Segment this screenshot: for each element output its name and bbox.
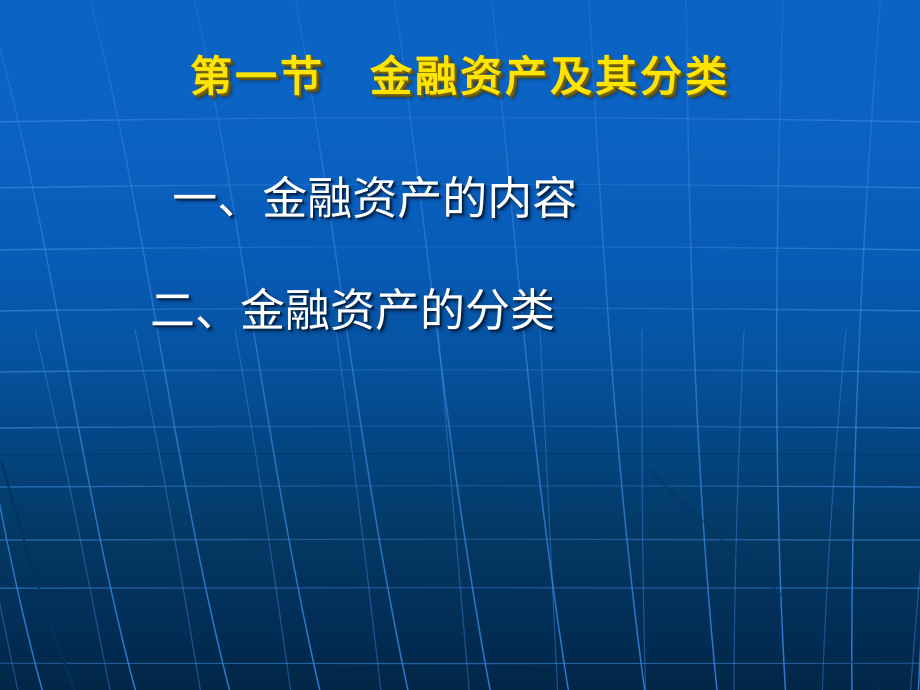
globe-terminator-arc: [2, 462, 78, 690]
page-title: 第一节 金融资产及其分类: [190, 55, 730, 99]
latitude-shadow-lines: [0, 454, 920, 613]
meridian-lines-secondary: [0, 330, 920, 690]
presentation-slide: 第一节 金融资产及其分类 一、金融资产的内容 二、金融资产的分类: [0, 0, 920, 690]
bullet-item-2: 二、金融资产的分类: [150, 287, 555, 335]
globe-terminator-arc-secondary: [650, 470, 880, 690]
bullet-item-1: 一、金融资产的内容: [158, 175, 577, 223]
slide-title-block: 第一节 金融资产及其分类: [0, 55, 920, 99]
globe-grid-background: [0, 0, 920, 690]
meridian-lines: [0, 0, 920, 690]
